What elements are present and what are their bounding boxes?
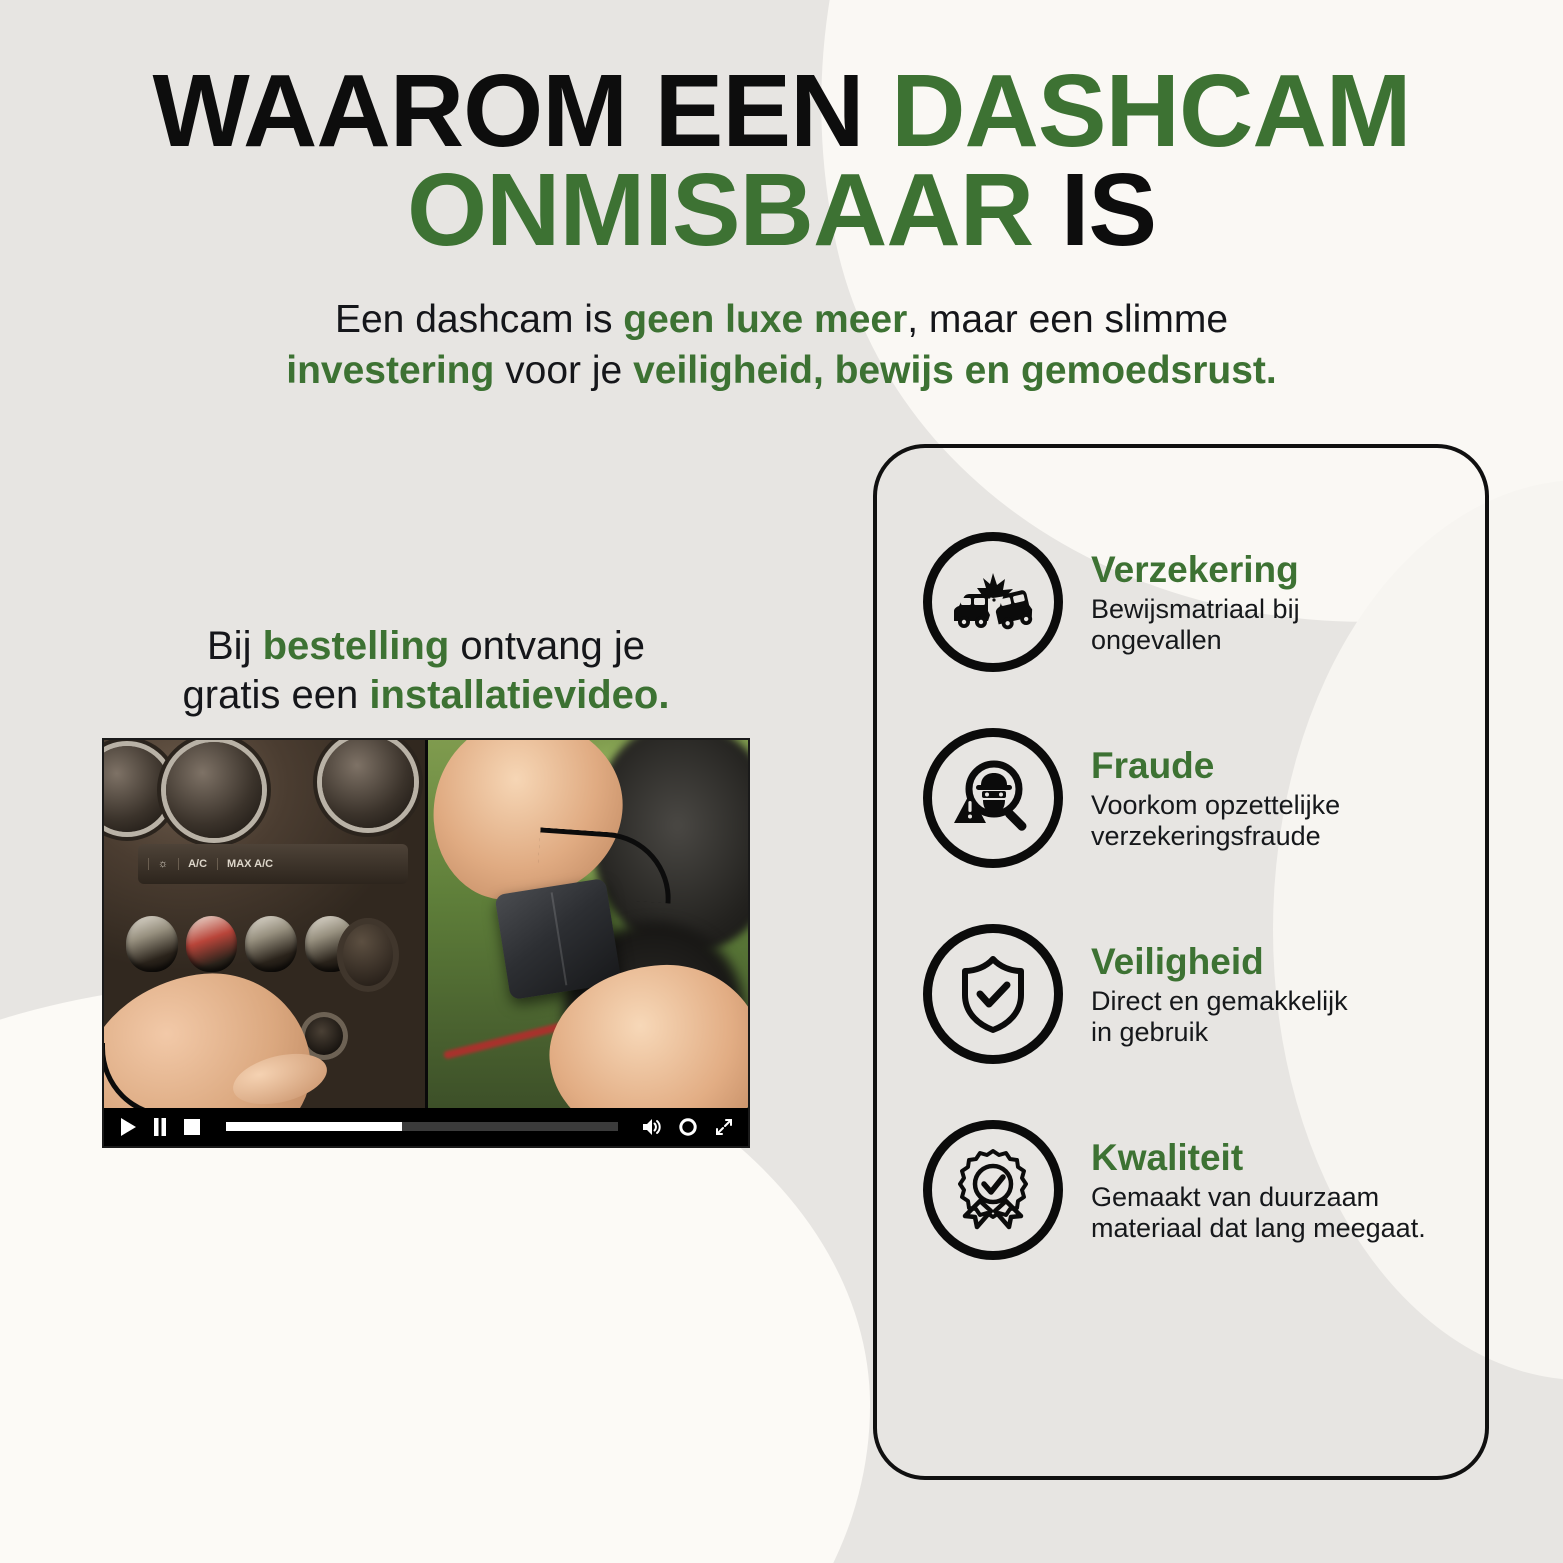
subtitle-highlight-2: investering (286, 349, 494, 392)
rotary-dial (337, 918, 399, 992)
promo-caption-highlight-2: installatievideo. (369, 673, 669, 717)
video-scene-dashcam (425, 740, 749, 1112)
feature-item-verzekering: Verzekering Bewijsmatriaal bij ongevalle… (923, 504, 1455, 700)
settings-button[interactable] (678, 1117, 698, 1137)
feature-text: Veiligheid Direct en gemakkelijk in gebr… (1091, 939, 1348, 1048)
video-progress-fill (226, 1122, 402, 1131)
ac-button-label: A/C (178, 858, 207, 870)
feature-text: Verzekering Bewijsmatriaal bij ongevalle… (1091, 547, 1300, 656)
promo-caption-part-2: ontvang je (449, 624, 645, 668)
climate-control-panel: ☼ A/C MAX A/C (138, 844, 408, 884)
air-vent (322, 740, 414, 828)
promo-caption-part-1: Bij (207, 624, 263, 668)
title-segment-dark-2: IS (1061, 152, 1156, 267)
page-title-line-2: ONMISBAAR IS (0, 161, 1563, 260)
promo-caption-part-3: gratis een (183, 673, 370, 717)
page-subtitle: Een dashcam is geen luxe meer, maar een … (202, 294, 1362, 397)
feature-item-fraude: Fraude Voorkom opzettelijke verzekerings… (923, 700, 1455, 896)
video-thumbnail[interactable]: ☼ A/C MAX A/C (104, 740, 748, 1112)
control-knob-row (126, 916, 356, 972)
feature-description: Bewijsmatriaal bij ongevallen (1091, 594, 1300, 657)
title-segment-dark-1: WAAROM EEN (152, 53, 891, 168)
feature-title: Kwaliteit (1091, 1139, 1426, 1178)
stop-button[interactable] (182, 1117, 202, 1137)
max-ac-button-label: MAX A/C (217, 858, 273, 870)
volume-button[interactable] (642, 1117, 662, 1137)
video-scene-dashboard: ☼ A/C MAX A/C (104, 740, 425, 1112)
page-title-line-1: WAAROM EEN DASHCAM (0, 62, 1563, 161)
feature-description: Gemaakt van duurzaam materiaal dat lang … (1091, 1182, 1426, 1245)
fraud-magnifier-icon (923, 728, 1063, 868)
feature-item-veiligheid: Veiligheid Direct en gemakkelijk in gebr… (923, 896, 1455, 1092)
air-vent (104, 746, 170, 832)
title-segment-green-1: DASHCAM (891, 53, 1410, 168)
feature-description: Direct en gemakkelijk in gebruik (1091, 986, 1348, 1049)
video-control-right-group (642, 1117, 734, 1137)
defrost-button-label: ☼ (148, 858, 168, 870)
header: WAAROM EEN DASHCAM ONMISBAAR IS Een dash… (0, 62, 1563, 397)
title-segment-green-2: ONMISBAAR (407, 152, 1061, 267)
video-control-bar[interactable] (104, 1108, 748, 1146)
subtitle-part-1: Een dashcam is (335, 298, 623, 341)
quality-badge-icon (923, 1120, 1063, 1260)
power-cable (104, 1043, 315, 1112)
control-knob (245, 916, 297, 972)
subtitle-part-2: , maar een slimme (907, 298, 1228, 341)
video-player[interactable]: ☼ A/C MAX A/C (102, 738, 750, 1148)
feature-title: Verzekering (1091, 551, 1300, 590)
video-progress-bar[interactable] (226, 1122, 618, 1131)
car-crash-icon (923, 532, 1063, 672)
feature-title: Fraude (1091, 747, 1340, 786)
subtitle-highlight-1: geen luxe meer (623, 298, 907, 341)
control-knob (126, 916, 178, 972)
features-card: Verzekering Bewijsmatriaal bij ongevalle… (873, 444, 1489, 1480)
shield-check-icon (923, 924, 1063, 1064)
promo-caption: Bij bestelling ontvang je gratis een ins… (102, 622, 750, 720)
play-button[interactable] (118, 1117, 138, 1137)
air-vent (166, 742, 262, 838)
feature-description: Voorkom opzettelijke verzekeringsfraude (1091, 790, 1340, 853)
control-knob (186, 916, 238, 972)
infographic-poster: WAAROM EEN DASHCAM ONMISBAAR IS Een dash… (0, 0, 1563, 1563)
promo-caption-highlight-1: bestelling (263, 624, 450, 668)
feature-title: Veiligheid (1091, 943, 1348, 982)
fullscreen-button[interactable] (714, 1117, 734, 1137)
subtitle-part-3: voor je (494, 349, 633, 392)
subtitle-highlight-3: veiligheid, bewijs en gemoedsrust. (633, 349, 1277, 392)
installation-video-promo: Bij bestelling ontvang je gratis een ins… (102, 622, 750, 1148)
feature-item-kwaliteit: Kwaliteit Gemaakt van duurzaam materiaal… (923, 1092, 1455, 1288)
feature-text: Fraude Voorkom opzettelijke verzekerings… (1091, 743, 1340, 852)
pause-button[interactable] (150, 1117, 170, 1137)
feature-text: Kwaliteit Gemaakt van duurzaam materiaal… (1091, 1135, 1426, 1244)
